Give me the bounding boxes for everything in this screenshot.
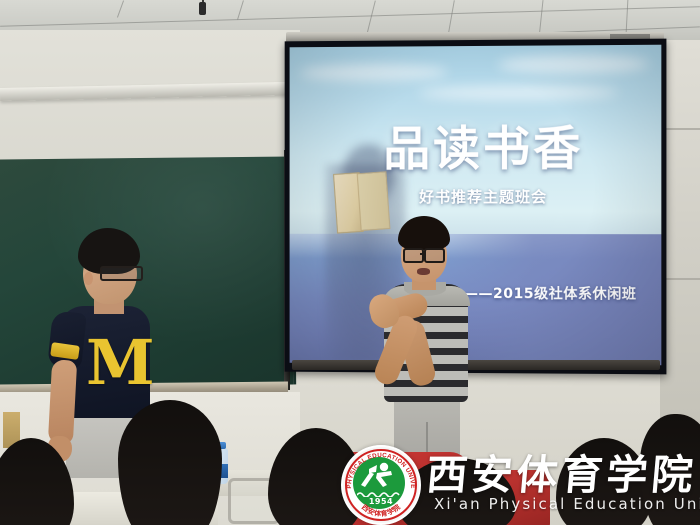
presenter-hair	[398, 216, 450, 250]
glasses-icon	[403, 248, 424, 263]
glasses-icon	[424, 248, 445, 263]
university-logo: XI'AN PHYSICAL EDUCATION UNIVERSITY 西安体育…	[341, 445, 421, 525]
glasses-icon	[100, 266, 143, 281]
audience-head	[118, 400, 222, 525]
presenter-student	[368, 216, 480, 468]
left-student-ear	[84, 272, 93, 285]
shirt-logo-letter: M	[86, 332, 144, 394]
university-name-en: Xi'an Physical Education University	[434, 495, 696, 513]
wall-seam	[662, 278, 700, 280]
ceiling-hook-icon	[199, 2, 206, 15]
university-name-cn: 西安体育学院	[424, 441, 697, 501]
glasses-bridge	[420, 253, 425, 255]
torch-athlete-icon	[357, 461, 401, 491]
watermark: XI'AN PHYSICAL EDUCATION UNIVERSITY 西安体育…	[341, 443, 697, 523]
left-student-arm	[48, 359, 77, 444]
presenter-mouth	[417, 268, 430, 275]
logo-founded-year: 1954	[343, 497, 419, 506]
classroom-photo: 品读书香 好书推荐主题班会 ——2015级社体系休闲班 M	[0, 0, 700, 525]
